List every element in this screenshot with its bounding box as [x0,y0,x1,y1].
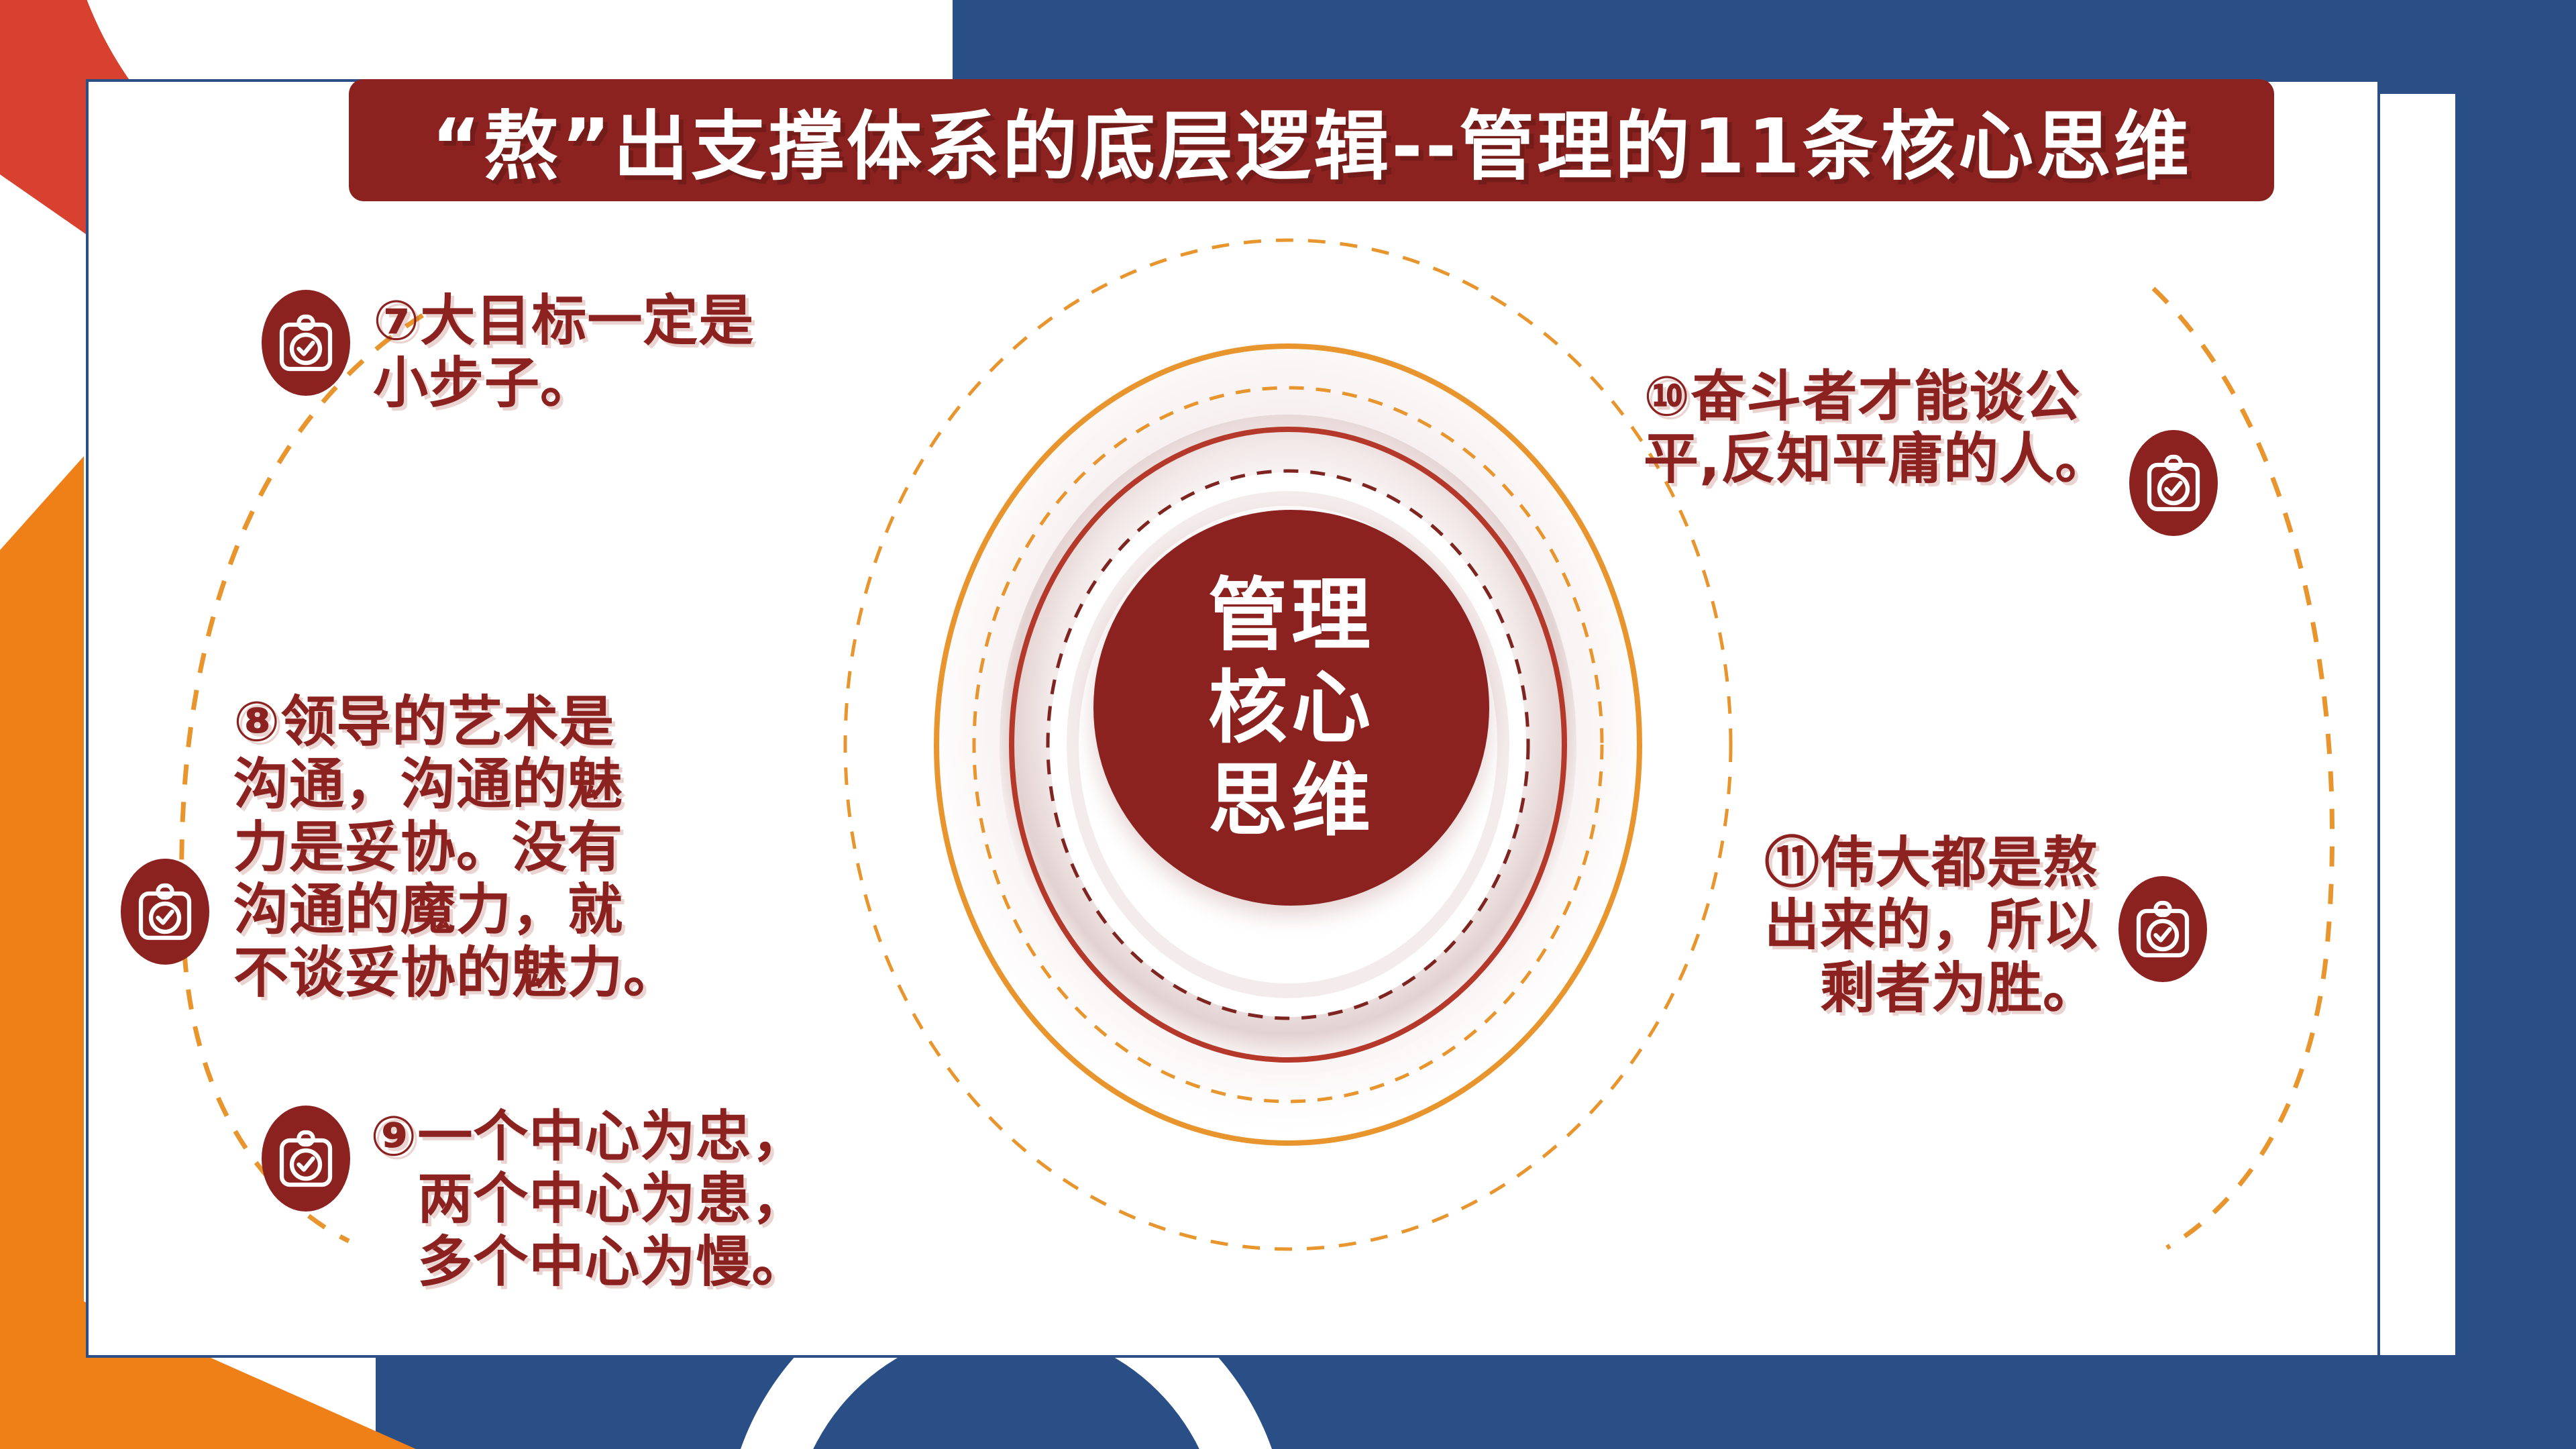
item-line: 平,反知平庸的人。 [1644,428,2110,490]
item-line: 两个中心为患， [370,1168,807,1230]
list-item-11-text: ⑪伟大都是熬 出来的，所以 剩者为胜。 [1764,832,2098,1020]
item-line: 沟通的魔力，就 [233,879,679,941]
item-line: 不谈妥协的魅力。 [233,942,679,1004]
list-item-8-text: ⑧领导的艺术是 沟通，沟通的魅 力是妥协。没有 沟通的魔力，就 不谈妥协的魅力。 [233,691,679,1004]
list-item-7[interactable]: ⑦大目标一定是 小步子。 [262,290,754,415]
item-line: ⑦大目标一定是 [373,290,754,352]
center-line-2: 核心 [1208,661,1375,754]
item-line: ⑧领导的艺术是 [233,691,679,753]
item-line: 出来的，所以 [1764,894,2098,957]
item-line: 剩者为胜。 [1764,957,2098,1020]
list-item-8[interactable]: ⑧领导的艺术是 沟通，沟通的魅 力是妥协。没有 沟通的魔力，就 不谈妥协的魅力。 [121,691,679,1004]
item-line: ⑩奋斗者才能谈公 [1644,366,2110,428]
item-line: ⑪伟大都是熬 [1764,832,2098,894]
clipboard-check-icon [2118,876,2207,982]
clipboard-check-icon [262,1106,350,1212]
center-line-1: 管理 [1208,569,1375,661]
clipboard-check-icon [121,859,209,965]
clipboard-check-icon [262,290,350,396]
list-item-10-text: ⑩奋斗者才能谈公 平,反知平庸的人。 [1644,366,2110,491]
slide-canvas: ⑦大目标一定是 小步子。 ⑧领导的艺术是 沟通，沟通的魅 力是妥协。没有 沟通的… [0,0,2576,1449]
clipboard-check-icon [2129,430,2218,536]
list-item-9-text: ⑨一个中心为忠， 两个中心为患， 多个中心为慢。 [370,1106,807,1293]
center-line-3: 思维 [1208,754,1375,847]
item-line: ⑨一个中心为忠， [370,1106,807,1168]
list-item-10[interactable]: ⑩奋斗者才能谈公 平,反知平庸的人。 [1644,366,2218,536]
center-core-label: 管理 核心 思维 [1093,510,1489,906]
item-line: 小步子。 [373,352,754,415]
decoration-blue-bar-bottom [376,1355,2576,1449]
list-item-11[interactable]: ⑪伟大都是熬 出来的，所以 剩者为胜。 [1764,832,2207,1020]
item-line: 多个中心为慢。 [370,1231,807,1293]
page-title-bar: “熬”出支撑体系的底层逻辑--管理的11条核心思维 [349,79,2274,201]
item-line: 沟通，沟通的魅 [233,753,679,816]
item-line: 力是妥协。没有 [233,816,679,879]
page-title: “熬”出支撑体系的底层逻辑--管理的11条核心思维 [431,86,2192,195]
list-item-7-text: ⑦大目标一定是 小步子。 [373,290,754,415]
list-item-9[interactable]: ⑨一个中心为忠， 两个中心为患， 多个中心为慢。 [262,1106,807,1293]
decoration-blue-bar-right [2455,0,2576,1449]
